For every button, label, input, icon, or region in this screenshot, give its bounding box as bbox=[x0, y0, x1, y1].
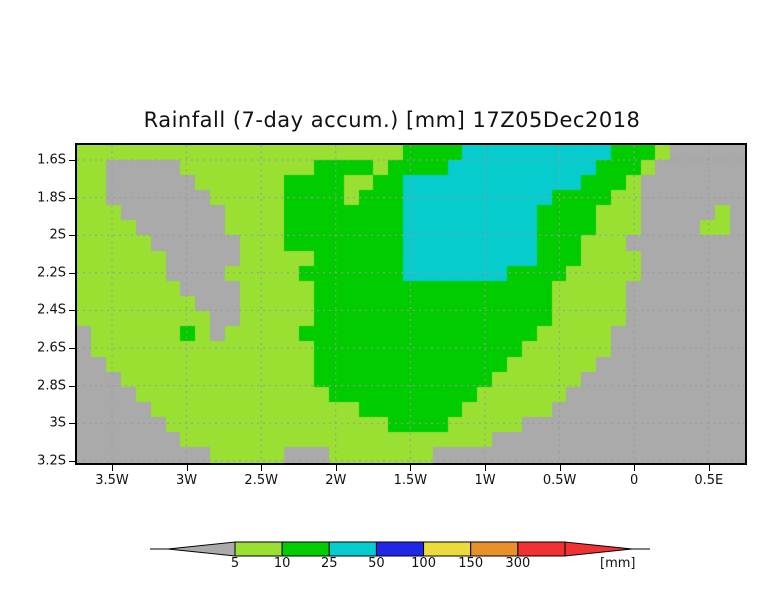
rainfall-heatmap-raster bbox=[77, 145, 745, 463]
colorbar-swatch[interactable] bbox=[329, 542, 376, 556]
x-axis-tick bbox=[485, 465, 486, 471]
y-axis-label: 1.6S bbox=[18, 153, 66, 168]
x-axis-label: 1W bbox=[474, 473, 495, 488]
x-axis-label: 0 bbox=[630, 473, 638, 488]
colorbar-under-arrow bbox=[168, 542, 235, 556]
y-axis-tick bbox=[69, 160, 75, 161]
colorbar-over-arrow bbox=[565, 542, 632, 556]
colorbar-tick-label: 300 bbox=[505, 556, 530, 571]
x-axis-label: 3W bbox=[176, 473, 197, 488]
y-axis-tick bbox=[69, 348, 75, 349]
y-axis-tick bbox=[69, 423, 75, 424]
colorbar-tick-label: 10 bbox=[274, 556, 291, 571]
y-axis-tick bbox=[69, 235, 75, 236]
colorbar-tick-label: 25 bbox=[321, 556, 338, 571]
x-axis-label: 0.5E bbox=[694, 473, 723, 488]
y-axis-label: 2S bbox=[18, 228, 66, 243]
y-axis-label: 2.2S bbox=[18, 265, 66, 280]
colorbar-swatch[interactable] bbox=[424, 542, 471, 556]
y-axis-label: 3S bbox=[18, 416, 66, 431]
y-axis-tick bbox=[69, 310, 75, 311]
colorbar-unit-label: [mm] bbox=[600, 556, 635, 571]
x-axis-tick bbox=[336, 465, 337, 471]
colorbar-tick-label: 100 bbox=[411, 556, 436, 571]
y-axis-label: 2.6S bbox=[18, 341, 66, 356]
y-axis-tick bbox=[69, 198, 75, 199]
colorbar-tick-label: 150 bbox=[458, 556, 483, 571]
colorbar-swatch[interactable] bbox=[471, 542, 518, 556]
colorbar-swatch[interactable] bbox=[518, 542, 565, 556]
y-axis-tick bbox=[69, 386, 75, 387]
x-axis-label: 3.5W bbox=[95, 473, 129, 488]
chart-title: Rainfall (7-day accum.) [mm] 17Z05Dec201… bbox=[0, 108, 784, 132]
x-axis-tick bbox=[187, 465, 188, 471]
x-axis-tick bbox=[410, 465, 411, 471]
rainfall-figure: Rainfall (7-day accum.) [mm] 17Z05Dec201… bbox=[0, 0, 784, 612]
y-axis-tick bbox=[69, 273, 75, 274]
x-axis-tick bbox=[261, 465, 262, 471]
x-axis-label: 0.5W bbox=[543, 473, 577, 488]
colorbar-swatches bbox=[150, 534, 650, 564]
x-axis-label: 2W bbox=[325, 473, 346, 488]
colorbar-swatch[interactable] bbox=[376, 542, 423, 556]
plot-area[interactable] bbox=[75, 143, 747, 465]
colorbar-tick-label: 50 bbox=[368, 556, 385, 571]
x-axis-label: 1.5W bbox=[394, 473, 428, 488]
x-axis-tick bbox=[560, 465, 561, 471]
y-axis-label: 2.4S bbox=[18, 303, 66, 318]
colorbar-swatch[interactable] bbox=[282, 542, 329, 556]
y-axis-tick bbox=[69, 461, 75, 462]
y-axis-label: 1.8S bbox=[18, 190, 66, 205]
colorbar-tick-label: 5 bbox=[231, 556, 239, 571]
y-axis-label: 2.8S bbox=[18, 378, 66, 393]
colorbar-swatch[interactable] bbox=[235, 542, 282, 556]
x-axis-tick bbox=[112, 465, 113, 471]
y-axis-label: 3.2S bbox=[18, 453, 66, 468]
x-axis-label: 2.5W bbox=[244, 473, 278, 488]
x-axis-tick bbox=[709, 465, 710, 471]
colorbar[interactable] bbox=[150, 534, 650, 578]
x-axis-tick bbox=[634, 465, 635, 471]
